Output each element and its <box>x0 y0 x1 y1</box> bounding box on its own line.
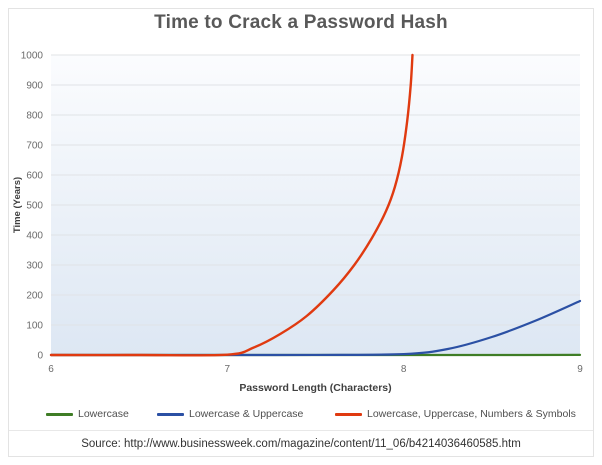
y-axis-tick-label: 200 <box>26 291 43 302</box>
legend-label: Lowercase & Uppercase <box>189 408 303 420</box>
y-axis-title: Time (Years) <box>12 177 23 233</box>
legend-label: Lowercase, Uppercase, Numbers & Symbols <box>367 408 576 420</box>
x-axis-title: Password Length (Characters) <box>239 382 391 394</box>
legend-swatch-lowercase-uppercase <box>157 413 184 416</box>
chart-legend: Lowercase Lowercase & Uppercase Lowercas… <box>10 400 592 428</box>
legend-swatch-lowercase <box>46 413 73 416</box>
source-text: Source: http://www.businessweek.com/maga… <box>81 438 521 450</box>
chart-plot: 010020030040050060070080090010006789Time… <box>0 0 602 465</box>
legend-swatch-all-characters <box>335 413 362 416</box>
chart-figure: Time to Crack a Password Hash 0100200300… <box>0 0 602 465</box>
x-axis-tick-label: 9 <box>577 364 583 375</box>
y-axis-tick-label: 700 <box>26 141 43 152</box>
x-axis-tick-label: 7 <box>225 364 231 375</box>
y-axis-tick-label: 600 <box>26 171 43 182</box>
y-axis-tick-label: 1000 <box>21 51 44 62</box>
y-axis-tick-label: 400 <box>26 231 43 242</box>
y-axis-tick-label: 100 <box>26 321 43 332</box>
y-axis-tick-label: 300 <box>26 261 43 272</box>
x-axis-tick-label: 8 <box>401 364 407 375</box>
y-axis-tick-label: 900 <box>26 81 43 92</box>
y-axis-tick-label: 500 <box>26 201 43 212</box>
y-axis-tick-label: 800 <box>26 111 43 122</box>
y-axis-tick-label: 0 <box>37 351 43 362</box>
legend-label: Lowercase <box>78 408 129 420</box>
x-axis-tick-label: 6 <box>48 364 54 375</box>
legend-item[interactable]: Lowercase & Uppercase <box>157 400 303 428</box>
legend-item[interactable]: Lowercase <box>46 400 129 428</box>
source-note: Source: http://www.businessweek.com/maga… <box>9 430 593 457</box>
legend-item[interactable]: Lowercase, Uppercase, Numbers & Symbols <box>335 400 576 428</box>
